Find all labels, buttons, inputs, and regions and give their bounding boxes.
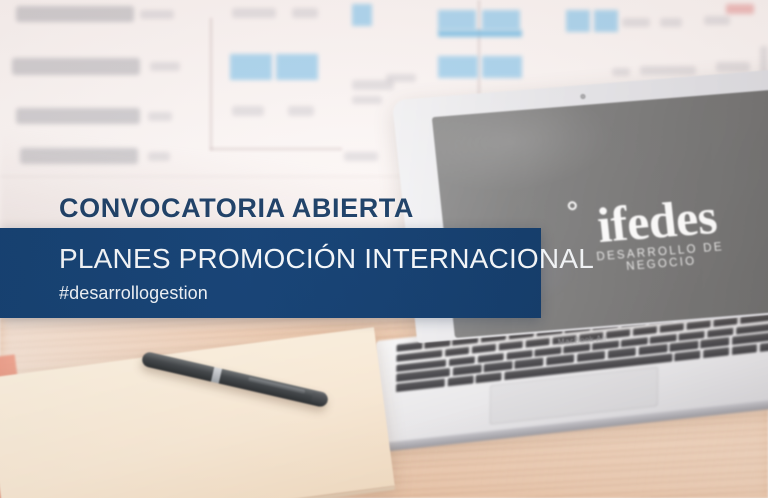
logo-ring-icon — [567, 201, 577, 211]
webcam-icon — [580, 94, 586, 99]
promo-banner-image: ifedes DESARROLLO DE NEGOCIO MacBook Air… — [0, 0, 768, 498]
headline-banner: PLANES PROMOCIÓN INTERNACIONAL #desarrol… — [0, 228, 541, 318]
banner-title: PLANES PROMOCIÓN INTERNACIONAL — [59, 243, 594, 275]
logo-wordmark: ifedes — [595, 191, 719, 250]
kicker-text: CONVOCATORIA ABIERTA — [59, 193, 414, 224]
banner-hashtag: #desarrollogestion — [59, 283, 208, 304]
